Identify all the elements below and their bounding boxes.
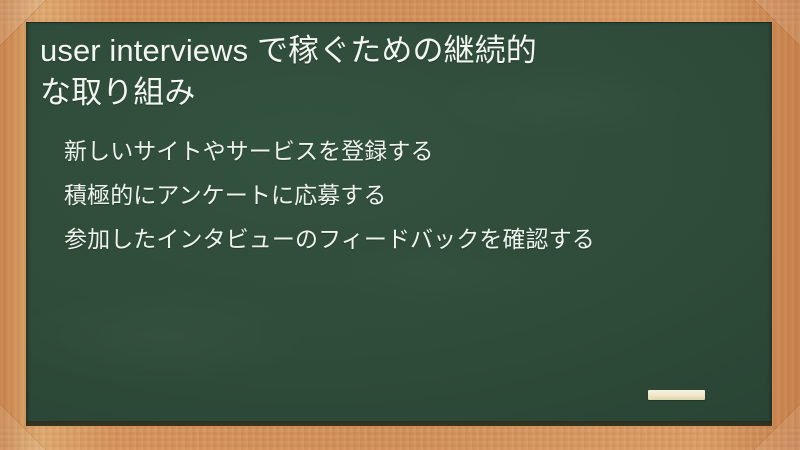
bullet-item: 新しいサイトやサービスを登録する — [64, 135, 738, 169]
chalk-stick-icon — [648, 390, 705, 400]
chalkboard-slide: user interviews で稼ぐための継続的 な取り組み 新しいサイトやサ… — [0, 0, 800, 450]
wood-frame-top-rail — [0, 0, 800, 24]
slide-bullet-list: 新しいサイトやサービスを登録する 積極的にアンケートに応募する 参加したインタビ… — [34, 135, 754, 256]
bullet-item: 積極的にアンケートに応募する — [64, 179, 738, 213]
board-ledge-shadow — [26, 421, 772, 426]
slide-content: user interviews で稼ぐための継続的 な取り組み 新しいサイトやサ… — [26, 22, 772, 426]
wood-frame-bottom-rail — [0, 426, 800, 450]
slide-title: user interviews で稼ぐための継続的 な取り組み — [34, 30, 754, 114]
chalkboard-surface: user interviews で稼ぐための継続的 な取り組み 新しいサイトやサ… — [26, 22, 772, 426]
bullet-item: 参加したインタビューのフィードバックを確認する — [64, 223, 738, 257]
